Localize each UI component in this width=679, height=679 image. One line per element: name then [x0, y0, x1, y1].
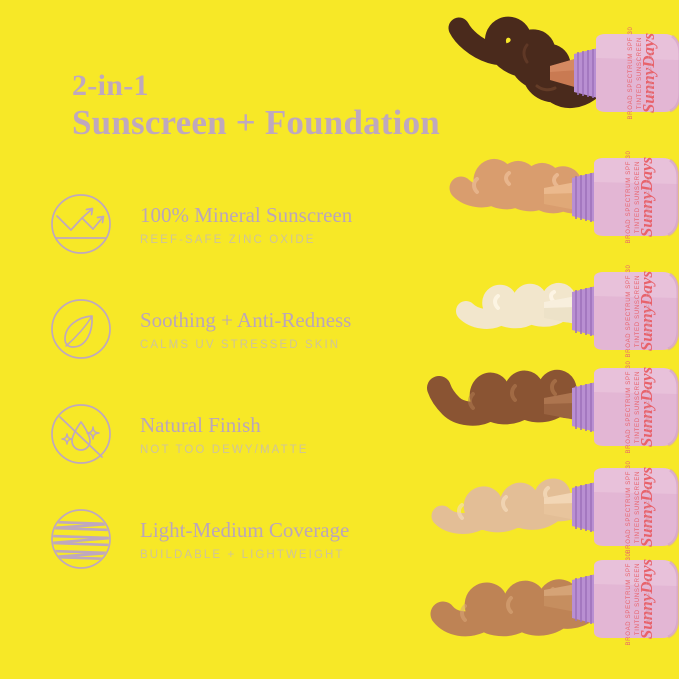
product-tube: SunnyDays BROAD SPECTRUM SPF 30 TINTED S… — [514, 14, 679, 132]
tube-label-line-2: TINTED SUNSCREEN — [635, 371, 641, 443]
tube-label-line-3: 30 ML / 1 FL. OZ. — [646, 483, 652, 531]
tube-label-line-3: 30 ML / 1 FL. OZ. — [646, 287, 652, 335]
tube-label-line-1: BROAD SPECTRUM SPF 30 — [626, 360, 632, 453]
tube-label-line-1: BROAD SPECTRUM SPF 30 — [626, 552, 632, 645]
feature-text-block: 100% Mineral Sunscreen REEF-SAFE ZINC OX… — [140, 202, 352, 246]
feature-title: Light-Medium Coverage — [140, 517, 349, 543]
feature-item-mineral-sunscreen: 100% Mineral Sunscreen REEF-SAFE ZINC OX… — [48, 188, 468, 260]
tube-label-line-3: 30 ML / 1 FL. OZ. — [648, 49, 654, 97]
tube-label-line-3: 30 ML / 1 FL. OZ. — [646, 173, 652, 221]
product-tube: SunnyDays BROAD SPECTRUM SPF 30 TINTED S… — [514, 142, 679, 260]
feature-text-block: Soothing + Anti-Redness CALMS UV STRESSE… — [140, 307, 351, 351]
tube-label-line-3: 30 ML / 1 FL. OZ. — [646, 575, 652, 623]
feature-subtitle: REEF-SAFE ZINC OXIDE — [140, 234, 352, 246]
feature-item-soothing: Soothing + Anti-Redness CALMS UV STRESSE… — [48, 293, 468, 365]
tube-label-line-1: BROAD SPECTRUM SPF 30 — [628, 26, 634, 119]
tube-label-line-2: TINTED SUNSCREEN — [635, 471, 641, 543]
feature-subtitle: CALMS UV STRESSED SKIN — [140, 339, 351, 351]
uv-reflect-icon — [48, 191, 114, 257]
feature-title: Natural Finish — [140, 412, 309, 438]
feature-text-block: Natural Finish NOT TOO DEWY/MATTE — [140, 412, 309, 456]
product-unit-caramel: SunnyDays BROAD SPECTRUM SPF 30 TINTED S… — [429, 540, 679, 679]
coverage-swatch-icon — [48, 506, 114, 572]
feature-subtitle: NOT TOO DEWY/MATTE — [140, 444, 309, 456]
no-dewy-droplet-icon — [48, 401, 114, 467]
tube-label-line-2: TINTED SUNSCREEN — [635, 161, 641, 233]
product-tube: SunnyDays BROAD SPECTRUM SPF 30 TINTED S… — [514, 544, 679, 662]
tube-label-line-1: BROAD SPECTRUM SPF 30 — [626, 150, 632, 243]
leaf-icon — [48, 296, 114, 362]
feature-subtitle: BUILDABLE + LIGHTWEIGHT — [140, 549, 349, 561]
tube-label-line-2: TINTED SUNSCREEN — [637, 37, 643, 109]
feature-title: Soothing + Anti-Redness — [140, 307, 351, 333]
feature-title: 100% Mineral Sunscreen — [140, 202, 352, 228]
product-tube-stack: SunnyDays BROAD SPECTRUM SPF 30 TINTED S… — [429, 0, 679, 679]
product-marketing-image: 2-in-1 Sunscreen + Foundation 100% Miner… — [0, 0, 679, 679]
product-unit-tan: SunnyDays BROAD SPECTRUM SPF 30 TINTED S… — [429, 136, 679, 276]
feature-text-block: Light-Medium Coverage BUILDABLE + LIGHTW… — [140, 517, 349, 561]
tube-label-line-3: 30 ML / 1 FL. OZ. — [646, 383, 652, 431]
tube-label-line-2: TINTED SUNSCREEN — [635, 563, 641, 635]
product-unit-espresso: SunnyDays BROAD SPECTRUM SPF 30 TINTED S… — [429, 6, 679, 146]
